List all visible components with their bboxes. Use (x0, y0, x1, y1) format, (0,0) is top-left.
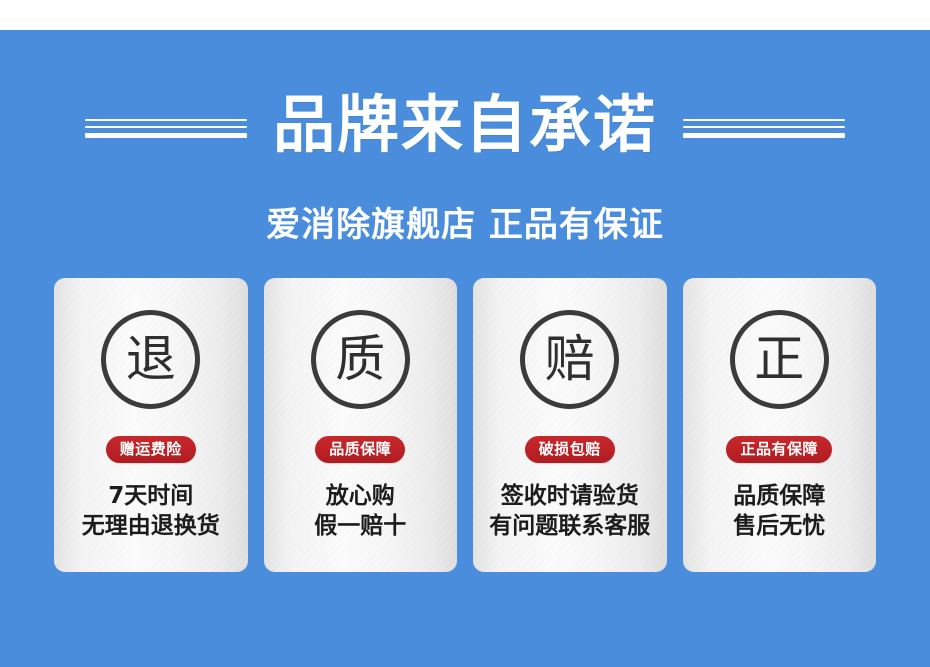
seal-glyph: 质 (335, 334, 385, 384)
card-description: 7天时间 无理由退换货 (82, 481, 220, 542)
status-badge-label: 破损包赔 (539, 442, 601, 457)
page-title: 品牌来自承诺 (273, 94, 657, 156)
seal-glyph: 退 (126, 334, 176, 384)
card-line: 品质保障 (733, 481, 825, 511)
rule-line (683, 119, 845, 121)
card-description: 签收时请验货 有问题联系客服 (489, 481, 650, 542)
guarantee-card-list: 退 赠运费险 7天时间 无理由退换货 质 品质保障 放心购 假一赔十 赔 破损包… (54, 278, 876, 572)
guarantee-card-quality[interactable]: 质 品质保障 放心购 假一赔十 (264, 278, 458, 572)
rule-line (85, 126, 247, 128)
rule-line (683, 126, 845, 128)
status-badge: 正品有保障 (726, 436, 832, 463)
decoration-lines-right (683, 113, 845, 138)
card-description: 品质保障 售后无忧 (733, 481, 825, 542)
card-line: 有问题联系客服 (489, 511, 650, 541)
seal-circle-icon: 质 (311, 310, 410, 409)
seal-circle-icon: 正 (730, 310, 829, 409)
top-white-strip (0, 0, 930, 30)
seal-circle-icon: 赔 (520, 310, 619, 409)
status-badge: 赠运费险 (106, 436, 196, 463)
status-badge-label: 赠运费险 (120, 442, 182, 457)
decoration-lines-left (85, 113, 247, 138)
status-badge-label: 品质保障 (329, 442, 391, 457)
seal-glyph: 正 (754, 334, 804, 384)
guarantee-card-authentic[interactable]: 正 正品有保障 品质保障 售后无忧 (683, 278, 877, 572)
card-line: 假一赔十 (314, 511, 406, 541)
card-line: 售后无忧 (733, 511, 825, 541)
rule-line (85, 119, 247, 121)
seal-glyph: 赔 (545, 334, 595, 384)
status-badge: 破损包赔 (525, 436, 615, 463)
card-line: 放心购 (314, 481, 406, 511)
card-description: 放心购 假一赔十 (314, 481, 406, 542)
rule-line (85, 133, 247, 138)
heading-row: 品牌来自承诺 (0, 82, 930, 168)
status-badge-label: 正品有保障 (740, 442, 818, 457)
seal-circle-icon: 退 (101, 310, 200, 409)
guarantee-card-compensation[interactable]: 赔 破损包赔 签收时请验货 有问题联系客服 (473, 278, 667, 572)
card-line: 7天时间 (82, 481, 220, 511)
status-badge: 品质保障 (315, 436, 405, 463)
guarantee-card-return[interactable]: 退 赠运费险 7天时间 无理由退换货 (54, 278, 248, 572)
card-line: 签收时请验货 (489, 481, 650, 511)
rule-line (683, 133, 845, 138)
card-line: 无理由退换货 (82, 511, 220, 541)
page-subtitle: 爱消除旗舰店 正品有保证 (0, 205, 930, 246)
